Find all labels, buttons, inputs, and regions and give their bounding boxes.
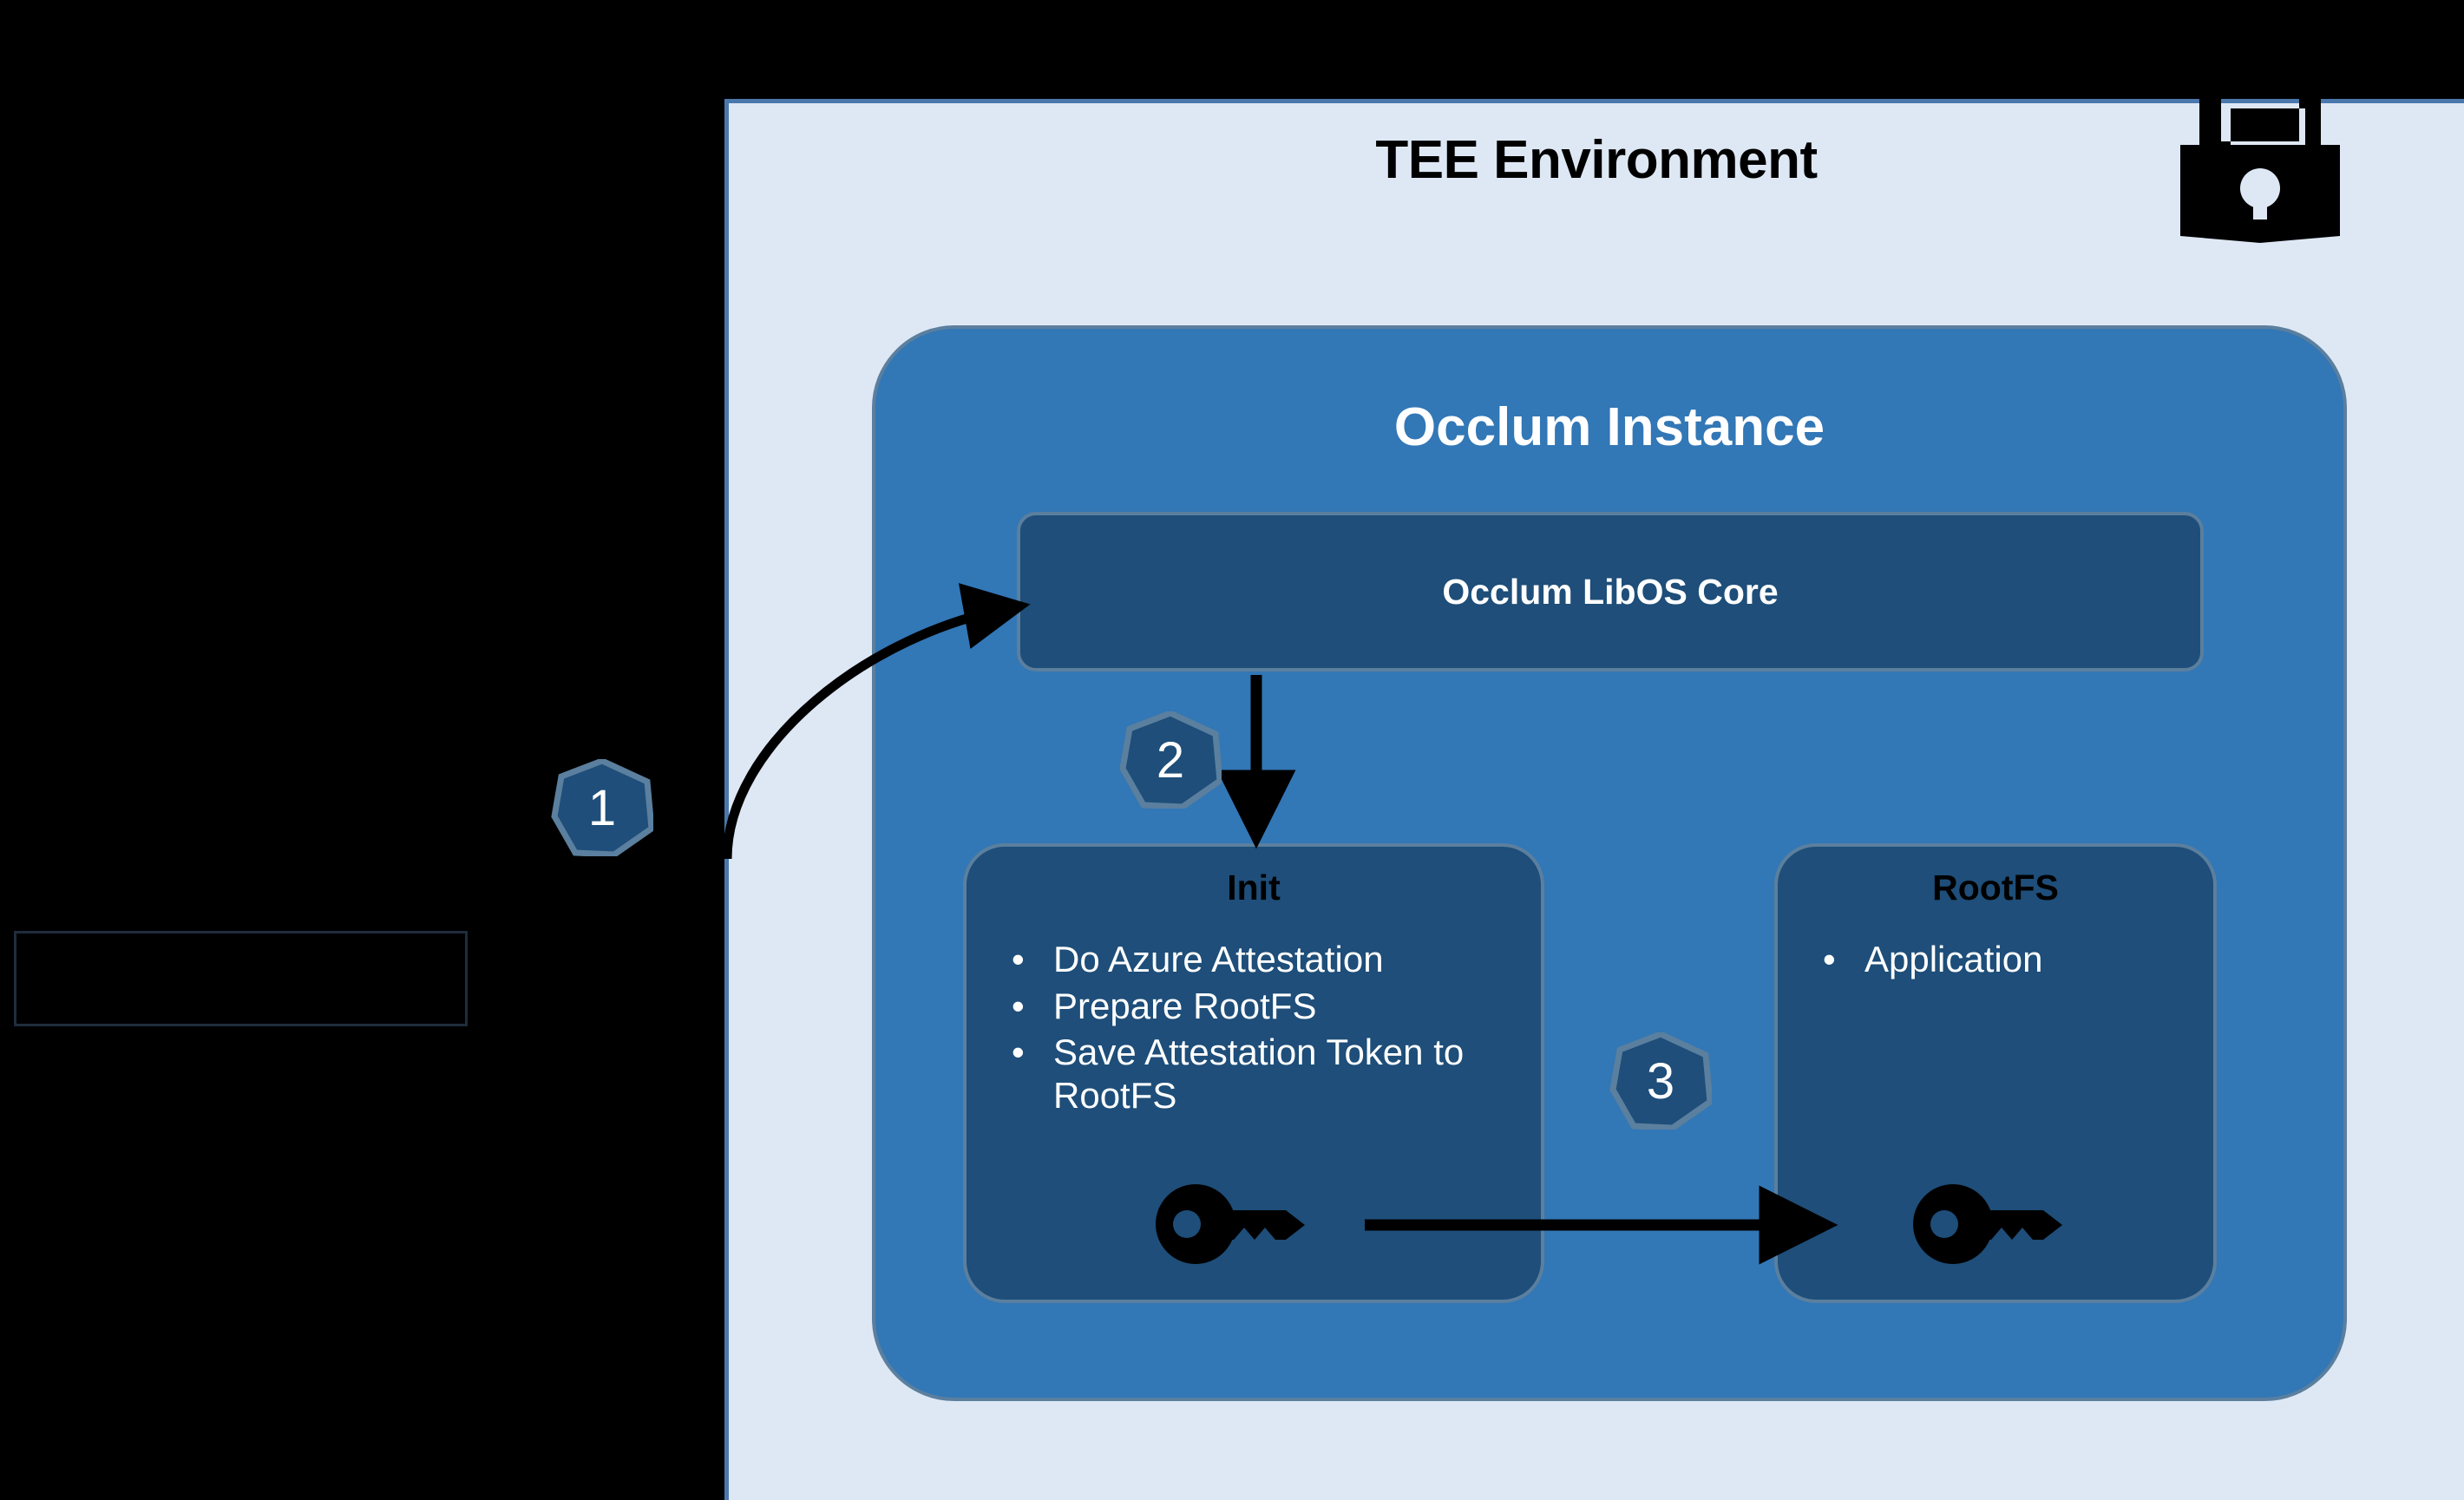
key-icon xyxy=(1913,1184,2068,1264)
step-badge-3: 3 xyxy=(1609,1032,1712,1130)
rootfs-bullet-list: Application xyxy=(1811,938,2199,985)
rootfs-title: RootFS xyxy=(1778,868,2213,908)
list-item: Save Attestation Token to RootFS xyxy=(999,1031,1527,1117)
step-badge-1-number: 1 xyxy=(551,759,653,856)
key-icon xyxy=(1156,1184,1310,1264)
list-item: Prepare RootFS xyxy=(999,985,1527,1028)
left-empty-rectangle xyxy=(14,931,468,1026)
list-item: Do Azure Attestation xyxy=(999,938,1527,981)
step-badge-2-number: 2 xyxy=(1119,711,1222,809)
occlum-libos-core-box: Occlum LibOS Core xyxy=(1017,512,2204,671)
step-badge-2: 2 xyxy=(1119,711,1222,809)
occlum-instance-title: Occlum Instance xyxy=(875,396,2343,458)
step-badge-1: 1 xyxy=(551,759,653,856)
step-badge-3-number: 3 xyxy=(1609,1032,1712,1130)
init-title: Init xyxy=(967,868,1541,908)
init-bullet-list: Do Azure Attestation Prepare RootFS Save… xyxy=(999,938,1527,1120)
occlum-libos-core-label: Occlum LibOS Core xyxy=(1442,572,1778,612)
list-item: Application xyxy=(1811,938,2199,981)
lock-icon xyxy=(2173,91,2347,252)
